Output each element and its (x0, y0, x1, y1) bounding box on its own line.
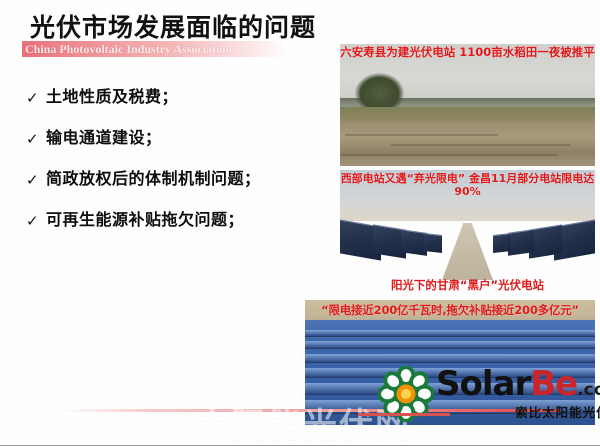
wordmark-be: Be (530, 364, 577, 404)
solar-panel-row (305, 330, 595, 337)
list-item: ✓ 可再生能源补贴拖欠问题； (26, 211, 326, 229)
logo-chinese-text: 索比太阳能光伏网 (515, 405, 600, 420)
solar-panel-row (493, 233, 511, 252)
photo-caption: 六安寿县为建光伏电站 1100亩水稻田一夜被推平 (340, 46, 595, 59)
logo-chinese-name: 索比太阳能光伏网 (436, 402, 600, 421)
page-title: 光伏市场发展面临的问题 (30, 8, 316, 44)
subtitle-text: China Photovoltaic Industry Association (22, 42, 232, 57)
photo-tree (355, 73, 403, 107)
photo-desert-plant: 西部电站又遇“弃光限电” 金昌11月部分电站限电达90% (340, 170, 595, 280)
list-item-label: 简政放权后的体制机制问题； (46, 170, 261, 188)
solar-panel-row (508, 229, 534, 256)
list-item: ✓ 土地性质及税费； (26, 88, 326, 106)
check-icon: ✓ (26, 129, 46, 147)
check-icon: ✓ (26, 211, 46, 229)
slide-canvas: 光伏市场发展面临的问题 China Photovoltaic Industry … (0, 0, 600, 446)
solar-panel-row (305, 354, 595, 363)
logo-rule (358, 413, 450, 416)
photo-furrow (340, 154, 557, 156)
solar-panel-row (401, 229, 427, 256)
solar-panel-row (424, 233, 442, 252)
check-icon: ✓ (26, 170, 46, 188)
wordmark-com: .com (577, 380, 600, 400)
list-item: ✓ 输电通道建设； (26, 129, 326, 147)
wordmark-solar: Solar (436, 364, 530, 404)
check-icon: ✓ (26, 88, 46, 106)
logo-wordmark: SolarBe.com 索比太阳能光伏网 (436, 367, 600, 421)
photo-furrow (345, 134, 498, 136)
list-item-label: 可再生能源补贴拖欠问题； (46, 211, 244, 229)
photo-caption-gansu: 阳光下的甘肃“黑户”光伏电站 (340, 277, 595, 293)
solar-panel-row (305, 341, 595, 349)
solar-panel-row (529, 225, 562, 259)
subtitle-band: China Photovoltaic Industry Association (22, 41, 290, 57)
photo-rice-field: 六安寿县为建光伏电站 1100亩水稻田一夜被推平 (340, 44, 595, 166)
photo-caption: “限电接近200亿千瓦时,拖欠补贴接近200多亿元” (305, 304, 595, 317)
photo-caption: 西部电站又遇“弃光限电” 金昌11月部分电站限电达90% (340, 173, 595, 198)
list-item-label: 土地性质及税费； (46, 88, 178, 106)
list-item-label: 输电通道建设； (46, 129, 162, 147)
bullet-list: ✓ 土地性质及税费； ✓ 输电通道建设； ✓ 简政放权后的体制机制问题； ✓ 可… (26, 88, 326, 252)
list-item: ✓ 简政放权后的体制机制问题； (26, 170, 326, 188)
photo-furrow (391, 144, 570, 146)
wordmark-line: SolarBe.com (436, 367, 600, 401)
solarbe-logo: SolarBe.com 索比太阳能光伏网 (378, 366, 600, 422)
